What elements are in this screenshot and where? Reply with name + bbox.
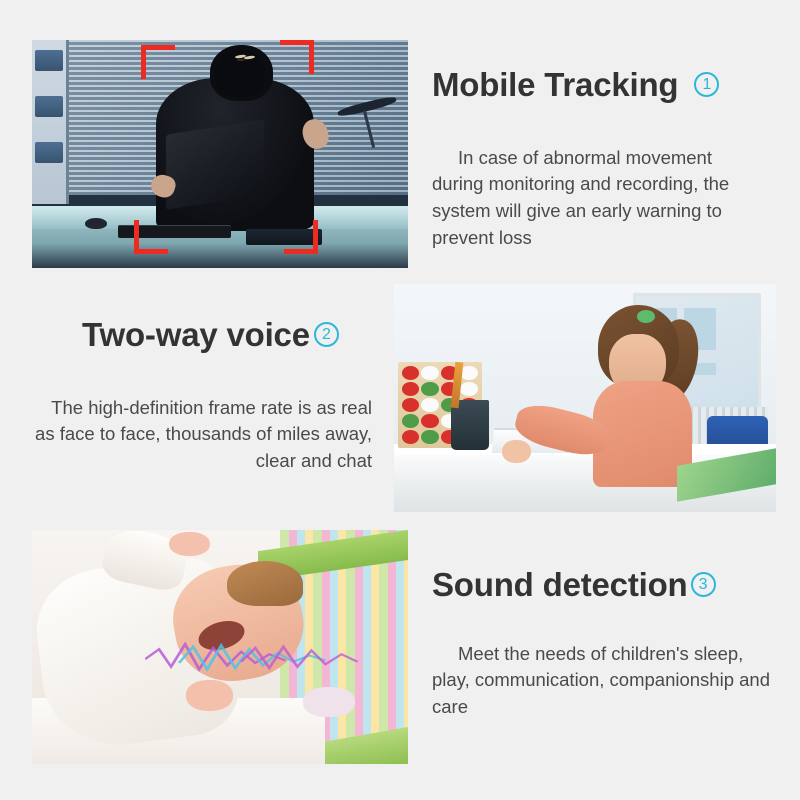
- baby-sock: [303, 687, 356, 717]
- stolen-laptop: [166, 119, 264, 209]
- feature-image-sound-detection: [32, 530, 408, 764]
- tracking-bracket-icon: [134, 220, 168, 254]
- feature-title-two-way-voice: Two-way voice 2: [82, 318, 339, 351]
- office-shelf: [32, 40, 69, 204]
- feature-body-two-way-voice: The high-definition frame rate is as rea…: [28, 395, 372, 475]
- feature-badge-3: 3: [691, 572, 716, 597]
- feature-title-text: Mobile Tracking: [432, 68, 678, 101]
- tracking-bracket-icon: [280, 40, 314, 74]
- feature-title-sound-detection: Sound detection 3: [432, 568, 716, 601]
- feature-body-mobile-tracking: In case of abnormal movement during moni…: [432, 145, 766, 252]
- feature-badge-1: 1: [694, 72, 719, 97]
- feature-title-text: Two-way voice: [82, 318, 310, 351]
- girl-figure: [570, 305, 700, 487]
- feature-image-mobile-tracking: [32, 40, 408, 268]
- computer-mouse: [85, 218, 108, 229]
- feature-badge-2: 2: [314, 322, 339, 347]
- sound-wave-icon: [145, 638, 386, 675]
- feature-body-sound-detection: Meet the needs of children's sleep, play…: [432, 641, 772, 721]
- feature-image-two-way-voice: [394, 284, 776, 512]
- feature-title-text: Sound detection: [432, 568, 688, 601]
- feature-title-mobile-tracking: Mobile Tracking 1: [432, 68, 719, 101]
- tracking-bracket-icon: [141, 45, 175, 79]
- tracking-bracket-icon: [284, 220, 318, 254]
